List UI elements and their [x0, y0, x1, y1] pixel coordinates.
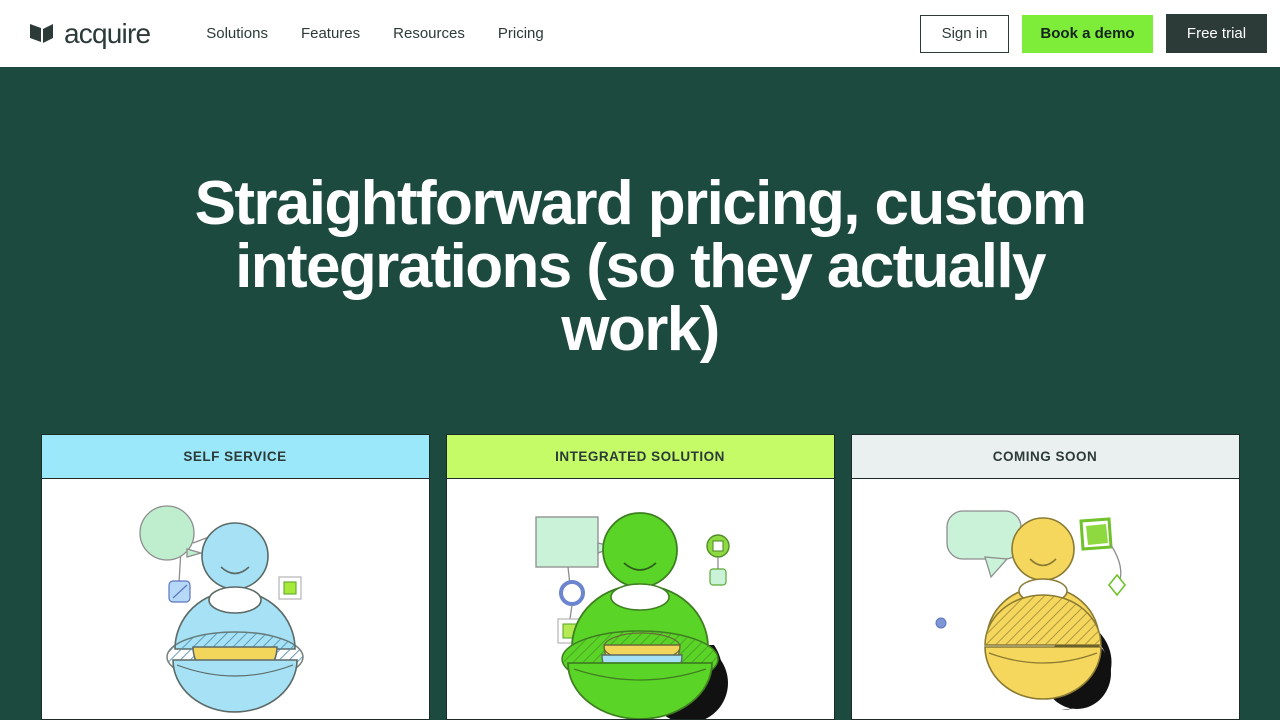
card-body [447, 479, 834, 720]
flag-logo-icon [28, 22, 60, 46]
logo[interactable]: acquire [28, 20, 150, 48]
card-body [852, 479, 1239, 720]
main-nav: Solutions Features Resources Pricing [206, 25, 543, 42]
card-header: SELF SERVICE [42, 435, 429, 479]
hero-section: Straightforward pricing, custom integrat… [0, 67, 1280, 434]
abstract-figure-blue-icon [115, 497, 355, 720]
card-header: INTEGRATED SOLUTION [447, 435, 834, 479]
pricing-cards: SELF SERVICE [0, 434, 1280, 720]
abstract-figure-yellow-icon [925, 497, 1165, 720]
sign-in-button[interactable]: Sign in [920, 15, 1009, 53]
card-title: COMING SOON [993, 449, 1098, 464]
page-title: Straightforward pricing, custom integrat… [160, 172, 1120, 362]
card-header: COMING SOON [852, 435, 1239, 479]
book-demo-button[interactable]: Book a demo [1022, 15, 1153, 53]
nav-item-pricing[interactable]: Pricing [498, 25, 544, 42]
nav-item-features[interactable]: Features [301, 25, 360, 42]
abstract-figure-green-icon [520, 497, 760, 720]
logo-text: acquire [64, 20, 150, 48]
pricing-card-coming-soon[interactable]: COMING SOON [851, 434, 1240, 720]
nav-item-resources[interactable]: Resources [393, 25, 465, 42]
header-actions: Sign in Book a demo Free trial [920, 0, 1280, 67]
nav-item-solutions[interactable]: Solutions [206, 25, 268, 42]
card-title: SELF SERVICE [183, 449, 286, 464]
card-body [42, 479, 429, 720]
site-header: acquire Solutions Features Resources Pri… [0, 0, 1280, 67]
free-trial-button[interactable]: Free trial [1166, 14, 1267, 53]
pricing-card-self-service[interactable]: SELF SERVICE [41, 434, 430, 720]
pricing-card-integrated-solution[interactable]: INTEGRATED SOLUTION [446, 434, 835, 720]
card-title: INTEGRATED SOLUTION [555, 449, 725, 464]
